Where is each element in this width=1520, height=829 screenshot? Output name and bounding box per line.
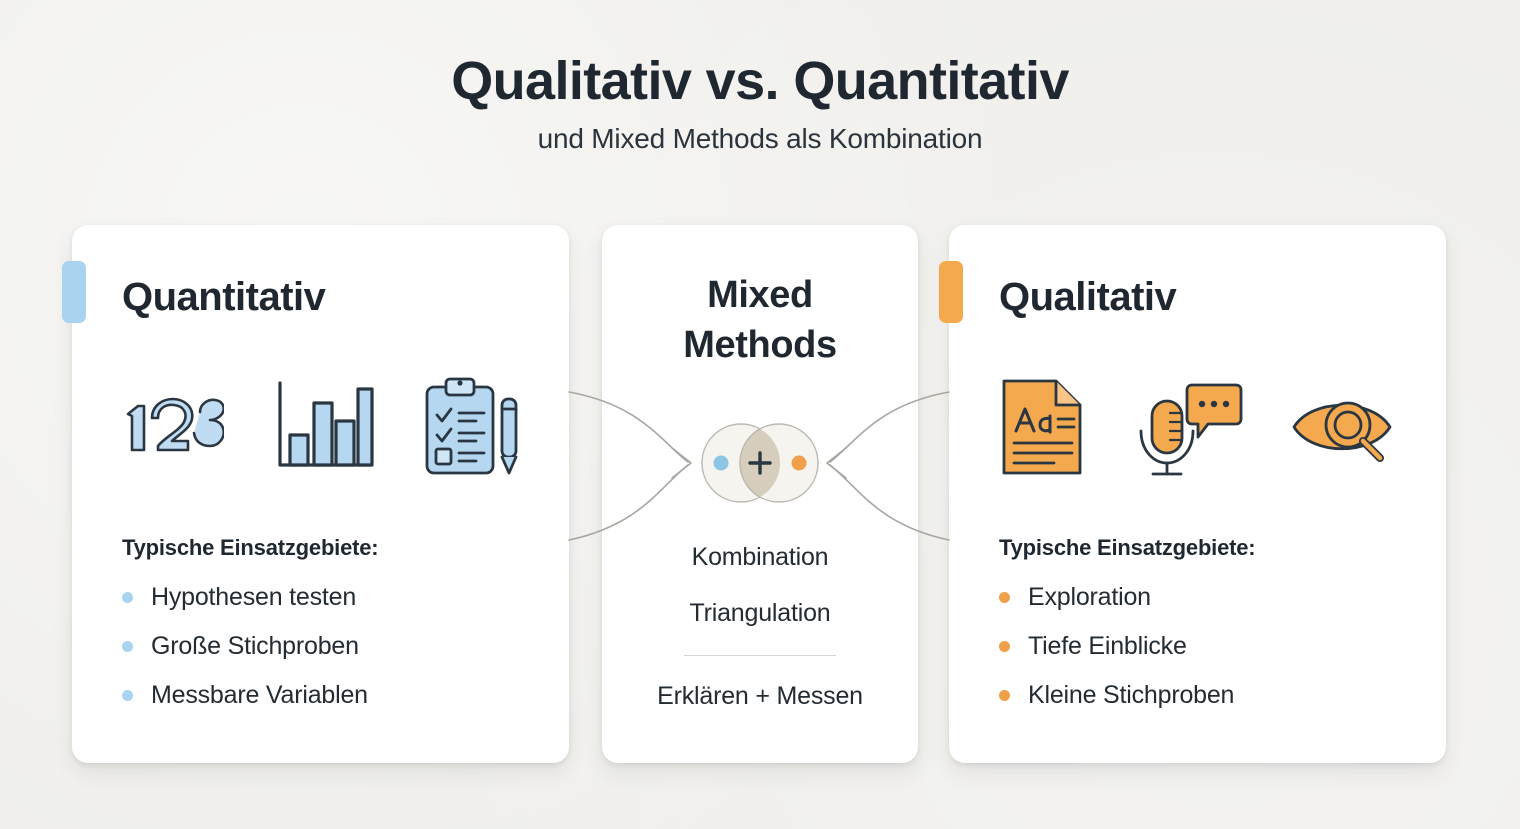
mixed-methods-text-block: Kombination Triangulation Erklären + Mes… [602,543,918,711]
infographic-stage: Qualitativ vs. Quantitativ und Mixed Met… [0,0,1520,829]
card-title-quantitative: Quantitativ [122,275,325,320]
header: Qualitativ vs. Quantitativ und Mixed Met… [0,52,1520,155]
list-item-label: Exploration [1028,583,1151,612]
list-qualitative: Typische Einsatzgebiete: Exploration Tie… [999,535,1399,730]
bullet-icon [999,690,1010,701]
document-text-aa-icon [994,375,1090,479]
list-quantitative: Typische Einsatzgebiete: Hypothesen test… [122,535,522,730]
list-title-quantitative: Typische Einsatzgebiete: [122,535,522,561]
bullet-icon [999,641,1010,652]
venn-wrap [602,421,918,505]
list-item: Exploration [999,583,1399,612]
clipboard-checklist-icon [422,375,522,479]
page-subtitle: und Mixed Methods als Kombination [0,123,1520,155]
card-title-mixed-methods: Mixed Methods [602,270,918,370]
list-item-label: Tiefe Einblicke [1028,632,1187,661]
card-title-mixed-line1: Mixed [602,270,918,320]
list-item: Große Stichproben [122,632,522,661]
list-item: Hypothesen testen [122,583,522,612]
mixed-line: Kombination [602,543,918,572]
page-title: Qualitativ vs. Quantitativ [0,52,1520,111]
card-quantitative[interactable]: Quantitativ [72,225,569,763]
numbers-123-icon [120,396,224,458]
bullet-icon [122,641,133,652]
accent-tab-qualitative [939,261,963,323]
list-item-label: Große Stichproben [151,632,359,661]
eye-magnifier-icon [1290,388,1402,466]
list-item: Messbare Variablen [122,681,522,710]
list-item: Kleine Stichproben [999,681,1399,710]
bar-chart-icon [270,377,376,477]
divider [684,655,836,656]
card-qualitative[interactable]: Qualitativ [949,225,1446,763]
bullet-icon [999,592,1010,603]
icon-row-qualitative [949,375,1446,479]
icon-row-quantitative [72,375,569,479]
list-item: Tiefe Einblicke [999,632,1399,661]
mixed-summary: Erklären + Messen [602,682,918,711]
list-item-label: Messbare Variablen [151,681,368,710]
list-title-qualitative: Typische Einsatzgebiete: [999,535,1399,561]
bullet-icon [122,592,133,603]
list-item-label: Hypothesen testen [151,583,356,612]
accent-tab-quantitative [62,261,86,323]
microphone-speech-bubble-icon [1136,375,1244,479]
card-mixed-methods[interactable]: Mixed Methods [602,225,918,763]
mixed-line: Triangulation [602,599,918,628]
venn-diagram-plus-icon [689,421,831,505]
card-title-mixed-line2: Methods [602,320,918,370]
list-item-label: Kleine Stichproben [1028,681,1234,710]
card-title-qualitative: Qualitativ [999,275,1176,320]
bullet-icon [122,690,133,701]
